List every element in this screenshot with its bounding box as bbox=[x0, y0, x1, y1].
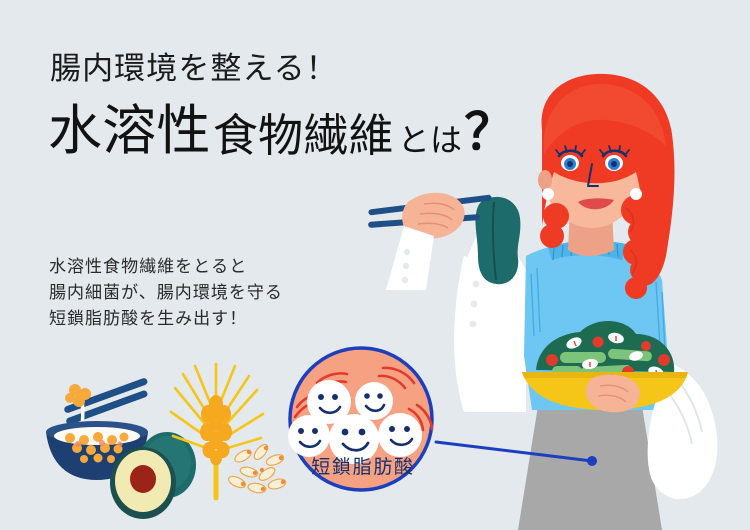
ear-left bbox=[538, 170, 552, 190]
kicker-heading: 腸内環境を整える！ bbox=[50, 51, 338, 88]
smiley-face-2 bbox=[355, 382, 393, 420]
body-line-2: 腸内細菌が、腸内環境を守る bbox=[49, 280, 283, 306]
wheat-stalk-icon bbox=[165, 360, 290, 500]
earring-right bbox=[630, 188, 642, 200]
wheat-grains-icon bbox=[227, 442, 287, 494]
scfa-circle-label: 短鎖脂肪酸 bbox=[283, 452, 443, 479]
seaweed-chopsticks-icon bbox=[360, 160, 540, 290]
title-part-large: 水溶性 bbox=[48, 104, 211, 158]
seaweed-shape bbox=[475, 197, 520, 284]
smiley-face-3 bbox=[288, 415, 330, 457]
earring-left bbox=[542, 188, 554, 200]
body-copy: 水溶性食物繊維をとると 腸内細菌が、腸内環境を守る 短鎖脂肪酸を生み出す！ bbox=[49, 254, 283, 332]
connector-line bbox=[420, 420, 620, 490]
body-line-3: 短鎖脂肪酸を生み出す！ bbox=[49, 306, 283, 332]
avocado-pit bbox=[130, 465, 156, 493]
smiley-face-5 bbox=[378, 413, 422, 457]
title-part-medium: 食物繊維 bbox=[213, 113, 394, 158]
wheat-head bbox=[200, 395, 232, 466]
wrist-cuff bbox=[386, 226, 434, 290]
poster-canvas: 腸内環境を整える！ 水溶性 食物繊維 とは ？ 水溶性食物繊維をとると 腸内細菌… bbox=[0, 0, 750, 530]
body-line-1: 水溶性食物繊維をとると bbox=[49, 254, 283, 280]
connector-endpoint-dot bbox=[587, 456, 597, 466]
